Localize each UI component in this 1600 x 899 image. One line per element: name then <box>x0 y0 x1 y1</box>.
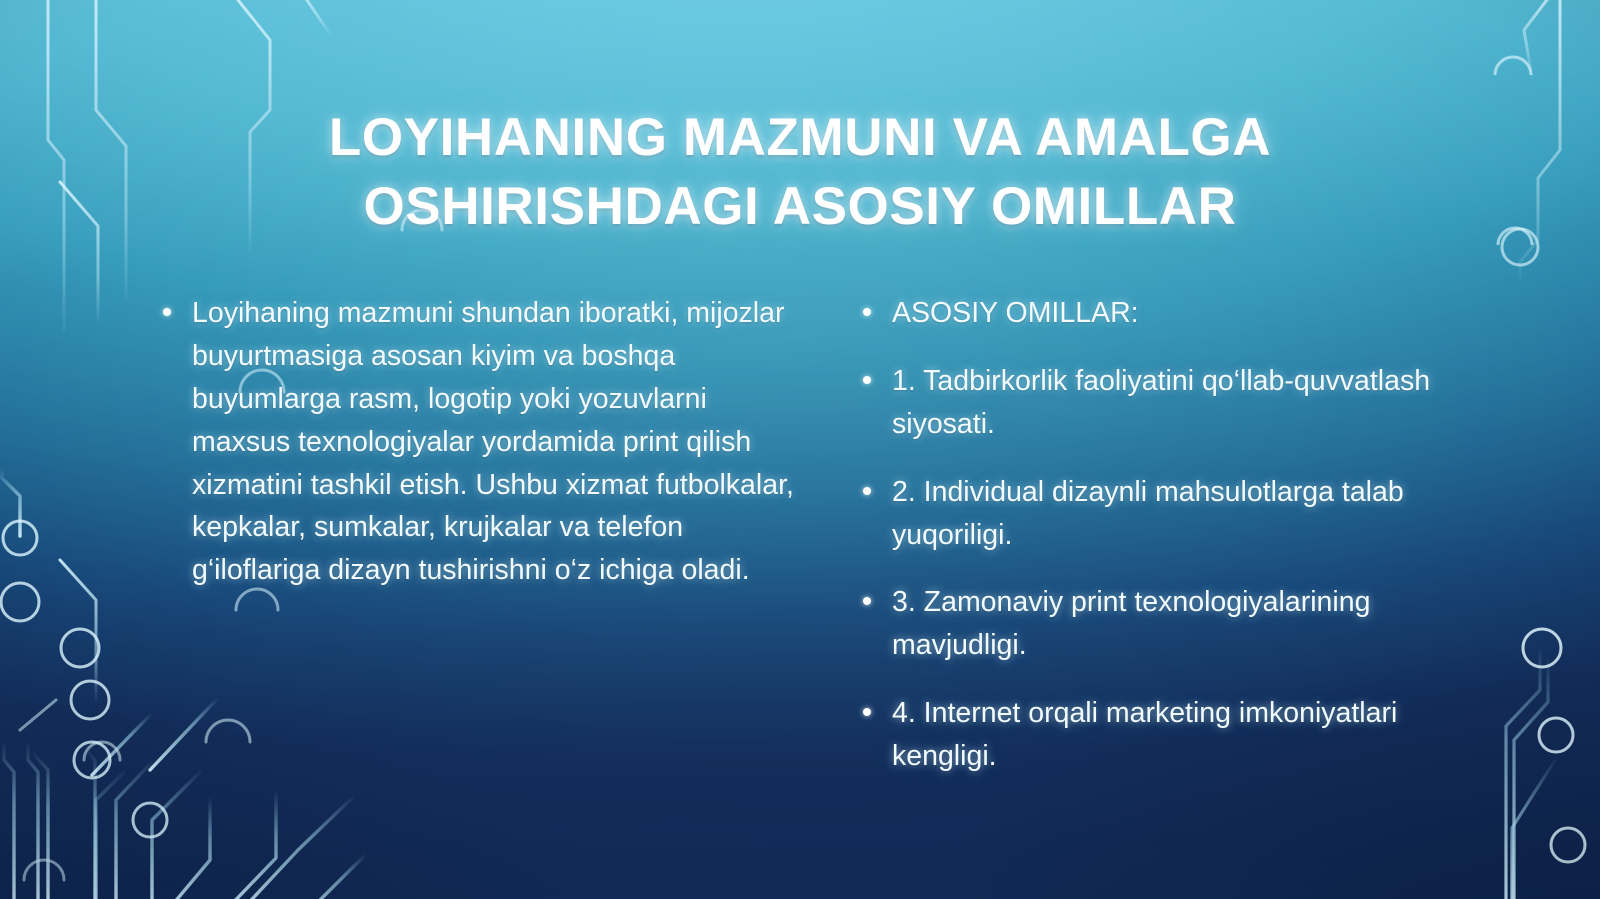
slide-content: LOYIHANING MAZMUNI VA AMALGA OSHIRISHDAG… <box>0 0 1600 899</box>
left-column: Loyihaning mazmuni shundan iboratki, mij… <box>150 292 810 592</box>
list-item: 3. Zamonaviy print texnologiyalarining m… <box>850 581 1450 667</box>
list-item: Loyihaning mazmuni shundan iboratki, mij… <box>150 292 810 592</box>
presentation-slide: LOYIHANING MAZMUNI VA AMALGA OSHIRISHDAG… <box>0 0 1600 899</box>
two-column-body: Loyihaning mazmuni shundan iboratki, mij… <box>0 292 1600 778</box>
list-item: 2. Individual dizaynli mahsulotlarga tal… <box>850 471 1450 557</box>
right-column: ASOSIY OMILLAR: 1. Tadbirkorlik faoliyat… <box>850 292 1450 778</box>
slide-title: LOYIHANING MAZMUNI VA AMALGA OSHIRISHDAG… <box>180 104 1420 242</box>
list-item: ASOSIY OMILLAR: <box>850 292 1450 335</box>
left-bullet-list: Loyihaning mazmuni shundan iboratki, mij… <box>150 292 810 592</box>
right-bullet-list: ASOSIY OMILLAR: 1. Tadbirkorlik faoliyat… <box>850 292 1450 778</box>
list-item: 4. Internet orqali marketing imkoniyatla… <box>850 692 1450 778</box>
list-item: 1. Tadbirkorlik faoliyatini qo‘llab-quvv… <box>850 360 1450 446</box>
